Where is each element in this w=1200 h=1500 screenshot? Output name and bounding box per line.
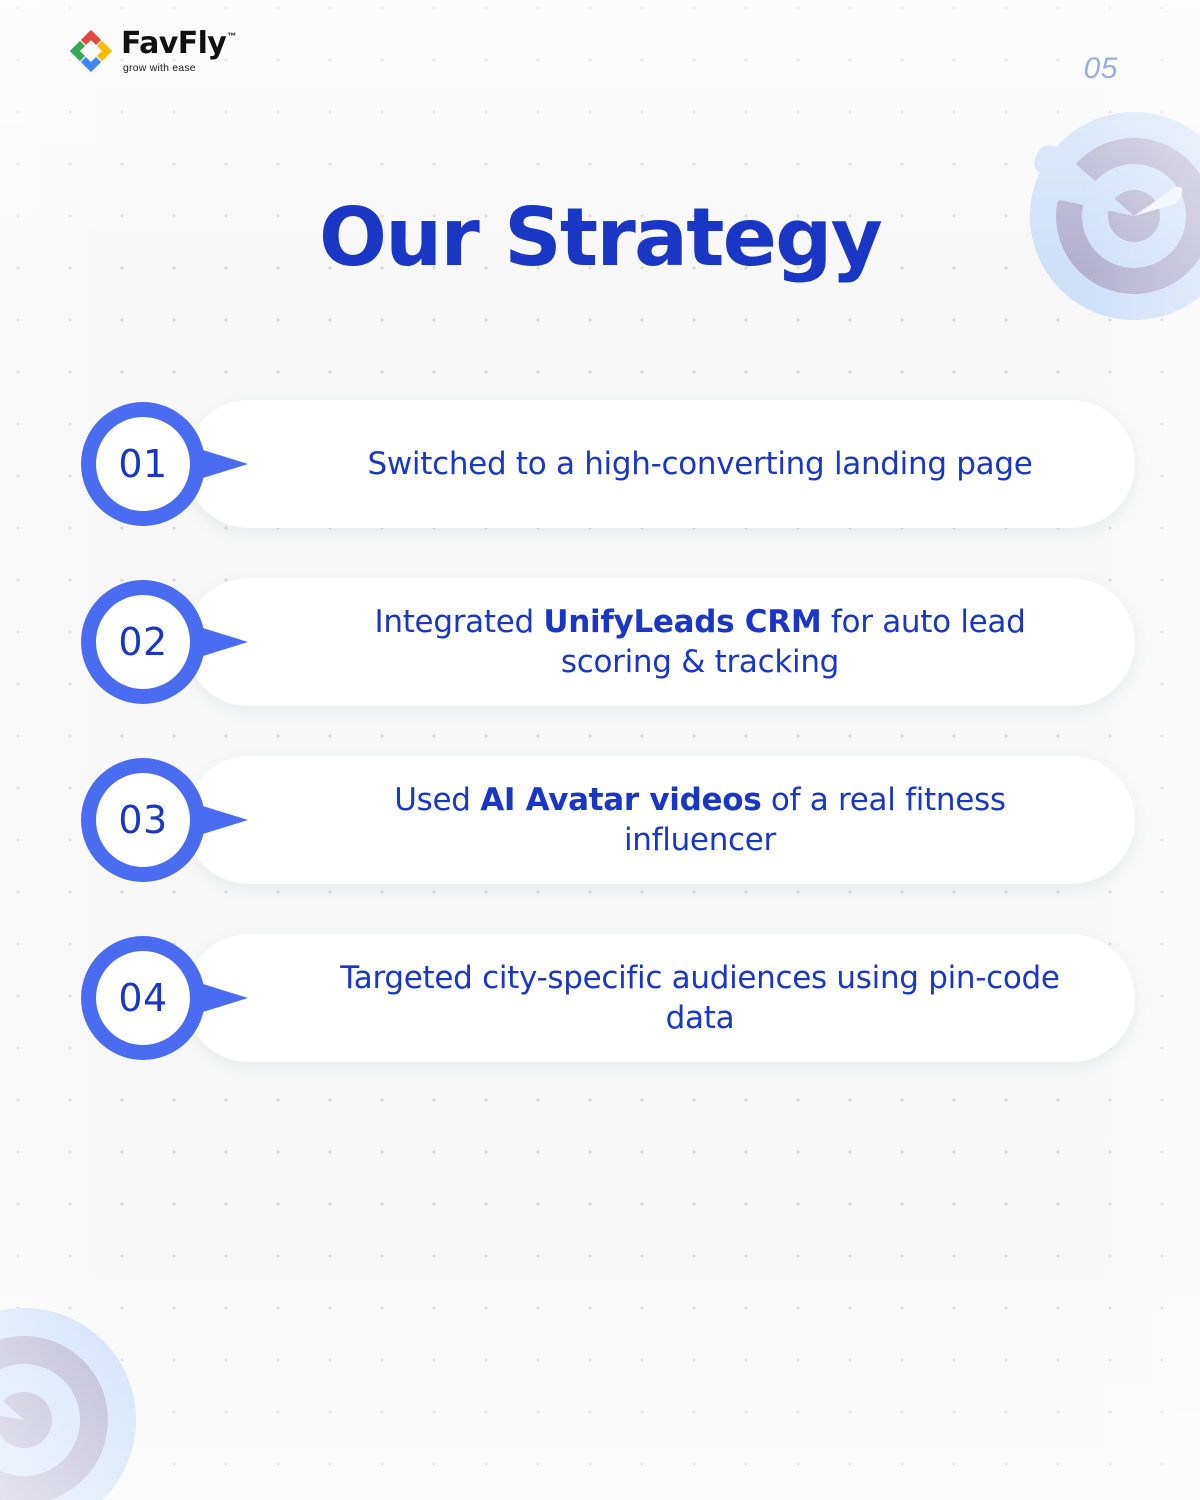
- list-item: Switched to a high-converting landing pa…: [0, 400, 1200, 528]
- brand-wordmark: FavFly ™ grow with ease: [121, 29, 236, 74]
- list-item: Targeted city-specific audiences using p…: [0, 934, 1200, 1062]
- list-item: Integrated UnifyLeads CRM for auto lead …: [0, 578, 1200, 706]
- page-header: FavFly ™ grow with ease 05: [0, 0, 1200, 110]
- text-before: Used: [394, 782, 480, 818]
- badge-circle-pointer-icon: [78, 576, 258, 708]
- badge-circle-pointer-icon: [78, 932, 258, 1064]
- strategy-card-text: Integrated UnifyLeads CRM for auto lead …: [320, 602, 1080, 683]
- page-number: 05: [1084, 52, 1118, 86]
- brand-tagline: grow with ease: [123, 63, 196, 74]
- strategy-card-text: Targeted city-specific audiences using p…: [320, 958, 1080, 1039]
- strategy-card-text: Switched to a high-converting landing pa…: [367, 444, 1032, 484]
- strategy-number-badge[interactable]: 01: [78, 398, 258, 530]
- brand-name: FavFly: [121, 29, 226, 59]
- strategy-card-text: Used AI Avatar videos of a real fitness …: [320, 780, 1080, 861]
- text-before: Targeted city-specific audiences using p…: [340, 960, 1059, 1036]
- strategy-number-badge[interactable]: 04: [78, 932, 258, 1064]
- badge-circle-pointer-icon: [78, 754, 258, 886]
- brand-logo: FavFly ™ grow with ease: [68, 28, 236, 74]
- trademark-symbol: ™: [227, 32, 236, 41]
- strategy-card[interactable]: Targeted city-specific audiences using p…: [185, 934, 1135, 1062]
- text-before: Integrated: [375, 604, 544, 640]
- text-before: Switched to a high-converting landing pa…: [367, 446, 1032, 482]
- badge-circle-pointer-icon: [78, 398, 258, 530]
- strategy-card[interactable]: Switched to a high-converting landing pa…: [185, 400, 1135, 528]
- list-item: Used AI Avatar videos of a real fitness …: [0, 756, 1200, 884]
- page-title: Our Strategy: [0, 196, 1200, 280]
- strategy-list: Switched to a high-converting landing pa…: [0, 400, 1200, 1112]
- text-highlight: AI Avatar videos: [480, 782, 761, 818]
- favfly-diamond-logo-icon: [68, 28, 114, 74]
- strategy-number-badge[interactable]: 02: [78, 576, 258, 708]
- strategy-number-badge[interactable]: 03: [78, 754, 258, 886]
- text-highlight: UnifyLeads CRM: [543, 604, 821, 640]
- strategy-card[interactable]: Integrated UnifyLeads CRM for auto lead …: [185, 578, 1135, 706]
- strategy-card[interactable]: Used AI Avatar videos of a real fitness …: [185, 756, 1135, 884]
